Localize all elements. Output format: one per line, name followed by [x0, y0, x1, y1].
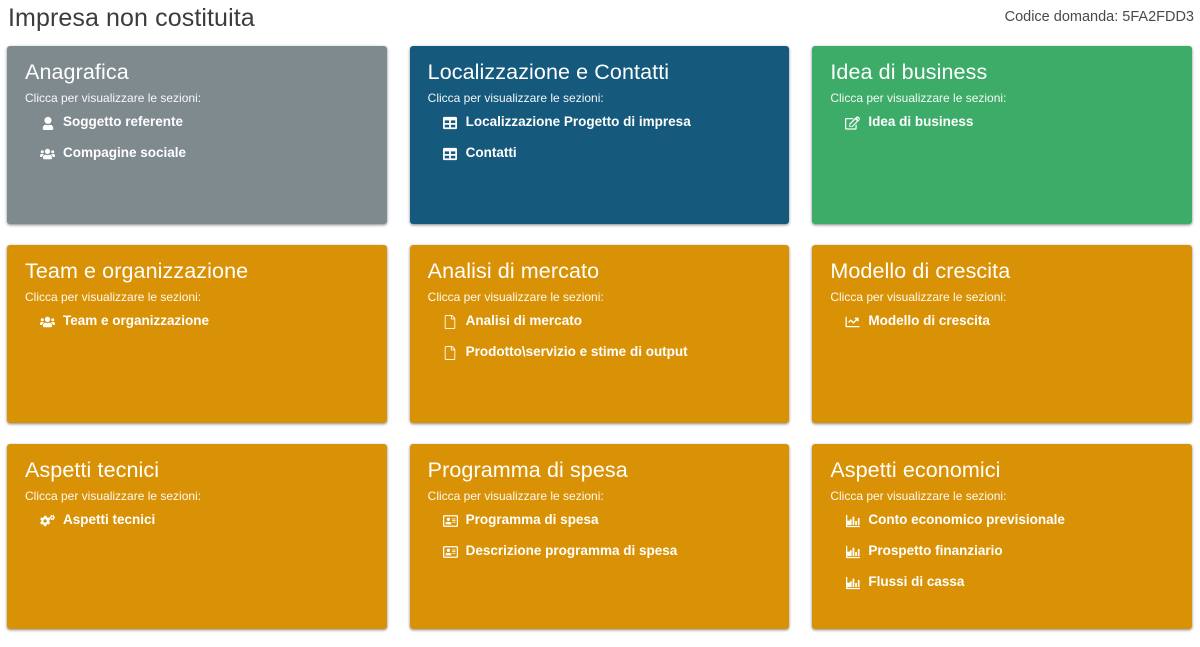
- cogs-icon: [40, 513, 55, 528]
- file-outline-icon: [443, 345, 458, 360]
- table-grid-icon: [443, 146, 458, 161]
- card-section-label: Team e organizzazione: [63, 314, 209, 329]
- page-title: Impresa non costituita: [8, 4, 255, 33]
- user-icon: [40, 115, 55, 130]
- card-section-list: Idea di business: [830, 115, 1174, 130]
- card-section-list: Soggetto referenteCompagine sociale: [25, 115, 369, 161]
- card-section-label: Soggetto referente: [63, 115, 183, 130]
- section-card[interactable]: Team e organizzazioneClicca per visualiz…: [7, 245, 387, 423]
- section-card[interactable]: Programma di spesaClicca per visualizzar…: [410, 444, 790, 629]
- card-title: Team e organizzazione: [25, 259, 369, 284]
- card-section-label: Prospetto finanziario: [868, 544, 1002, 559]
- card-section-label: Idea di business: [868, 115, 973, 130]
- section-card[interactable]: Analisi di mercatoClicca per visualizzar…: [410, 245, 790, 423]
- card-section-link[interactable]: Aspetti tecnici: [40, 513, 369, 528]
- card-section-link[interactable]: Programma di spesa: [443, 513, 772, 528]
- request-code: Codice domanda: 5FA2FDD3: [1005, 9, 1194, 25]
- edit-square-icon: [845, 115, 860, 130]
- card-section-list: Programma di spesaDescrizione programma …: [428, 513, 772, 559]
- section-card[interactable]: Localizzazione e ContattiClicca per visu…: [410, 46, 790, 224]
- card-subtitle: Clicca per visualizzare le sezioni:: [25, 91, 369, 105]
- card-section-link[interactable]: Soggetto referente: [40, 115, 369, 130]
- card-section-list: Team e organizzazione: [25, 314, 369, 329]
- card-section-link[interactable]: Contatti: [443, 146, 772, 161]
- bar-chart-icon: [845, 544, 860, 559]
- users-group-icon: [40, 314, 55, 329]
- card-section-label: Prodotto\servizio e stime di output: [466, 345, 688, 360]
- address-card-icon: [443, 544, 458, 559]
- card-section-list: Aspetti tecnici: [25, 513, 369, 528]
- card-section-link[interactable]: Prodotto\servizio e stime di output: [443, 345, 772, 360]
- card-title: Localizzazione e Contatti: [428, 60, 772, 85]
- card-section-list: Localizzazione Progetto di impresaContat…: [428, 115, 772, 161]
- card-section-list: Conto economico previsionaleProspetto fi…: [830, 513, 1174, 590]
- chart-line-icon: [845, 314, 860, 329]
- card-title: Aspetti economici: [830, 458, 1174, 483]
- address-card-icon: [443, 513, 458, 528]
- card-section-link[interactable]: Compagine sociale: [40, 146, 369, 161]
- card-section-link[interactable]: Team e organizzazione: [40, 314, 369, 329]
- card-section-label: Compagine sociale: [63, 146, 186, 161]
- card-section-label: Programma di spesa: [466, 513, 599, 528]
- card-section-link[interactable]: Localizzazione Progetto di impresa: [443, 115, 772, 130]
- section-card[interactable]: AnagraficaClicca per visualizzare le sez…: [7, 46, 387, 224]
- bar-chart-icon: [845, 513, 860, 528]
- card-subtitle: Clicca per visualizzare le sezioni:: [428, 91, 772, 105]
- card-subtitle: Clicca per visualizzare le sezioni:: [25, 489, 369, 503]
- card-title: Anagrafica: [25, 60, 369, 85]
- section-card[interactable]: Modello di crescitaClicca per visualizza…: [812, 245, 1192, 423]
- card-section-link[interactable]: Modello di crescita: [845, 314, 1174, 329]
- card-section-link[interactable]: Flussi di cassa: [845, 575, 1174, 590]
- page-header: Impresa non costituita Codice domanda: 5…: [0, 0, 1200, 46]
- card-section-link[interactable]: Descrizione programma di spesa: [443, 544, 772, 559]
- card-section-label: Localizzazione Progetto di impresa: [466, 115, 691, 130]
- card-title: Modello di crescita: [830, 259, 1174, 284]
- card-subtitle: Clicca per visualizzare le sezioni:: [428, 489, 772, 503]
- card-section-link[interactable]: Idea di business: [845, 115, 1174, 130]
- card-section-list: Modello di crescita: [830, 314, 1174, 329]
- section-card[interactable]: Aspetti economiciClicca per visualizzare…: [812, 444, 1192, 629]
- card-title: Programma di spesa: [428, 458, 772, 483]
- card-subtitle: Clicca per visualizzare le sezioni:: [428, 290, 772, 304]
- card-subtitle: Clicca per visualizzare le sezioni:: [830, 489, 1174, 503]
- table-grid-icon: [443, 115, 458, 130]
- section-card[interactable]: Aspetti tecniciClicca per visualizzare l…: [7, 444, 387, 629]
- card-title: Idea di business: [830, 60, 1174, 85]
- card-section-label: Analisi di mercato: [466, 314, 582, 329]
- card-section-label: Flussi di cassa: [868, 575, 964, 590]
- card-section-list: Analisi di mercatoProdotto\servizio e st…: [428, 314, 772, 360]
- users-group-icon: [40, 146, 55, 161]
- file-outline-icon: [443, 314, 458, 329]
- card-section-label: Modello di crescita: [868, 314, 990, 329]
- card-section-link[interactable]: Analisi di mercato: [443, 314, 772, 329]
- bar-chart-icon: [845, 575, 860, 590]
- card-subtitle: Clicca per visualizzare le sezioni:: [830, 91, 1174, 105]
- card-section-label: Aspetti tecnici: [63, 513, 155, 528]
- section-card-grid: AnagraficaClicca per visualizzare le sez…: [0, 46, 1200, 629]
- card-section-link[interactable]: Prospetto finanziario: [845, 544, 1174, 559]
- card-section-link[interactable]: Conto economico previsionale: [845, 513, 1174, 528]
- card-title: Analisi di mercato: [428, 259, 772, 284]
- card-title: Aspetti tecnici: [25, 458, 369, 483]
- card-section-label: Contatti: [466, 146, 517, 161]
- card-section-label: Conto economico previsionale: [868, 513, 1065, 528]
- card-section-label: Descrizione programma di spesa: [466, 544, 678, 559]
- section-card[interactable]: Idea di businessClicca per visualizzare …: [812, 46, 1192, 224]
- card-subtitle: Clicca per visualizzare le sezioni:: [25, 290, 369, 304]
- card-subtitle: Clicca per visualizzare le sezioni:: [830, 290, 1174, 304]
